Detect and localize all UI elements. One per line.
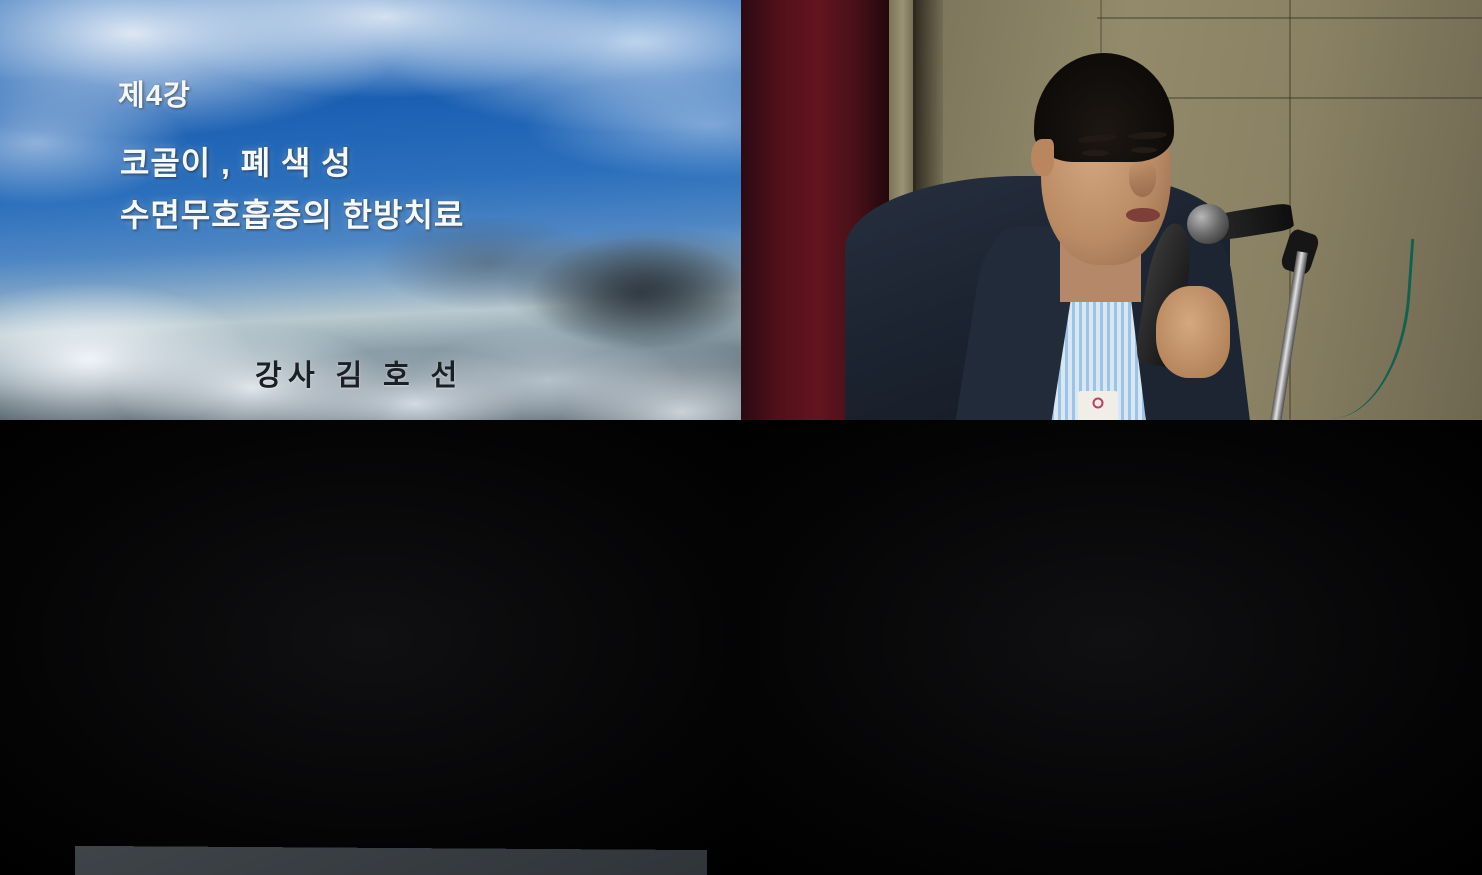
speaker-eye: [1082, 150, 1109, 156]
dark-lecture-room: [741, 420, 1482, 875]
microphone-head-icon: [1187, 204, 1228, 244]
speaker-hand: [1156, 286, 1230, 378]
four-panel-video-grid: 제4강 코골이 , 폐 색 성 수면무호흡증의 한방치료 강사 김 호 선: [0, 0, 1482, 875]
badge-logo-icon: [1093, 397, 1104, 408]
speaker-camera-panel: [741, 0, 1482, 420]
lecture-title-line-2: 수면무호흡증의 한방치료: [120, 190, 464, 242]
speaker-name-badge: [1078, 391, 1118, 420]
lecture-title-line-1: 코골이 , 폐 색 성: [120, 138, 464, 190]
lecture-main-title: 코골이 , 폐 색 성 수면무호흡증의 한방치료: [120, 138, 464, 242]
speaker-ear: [1031, 139, 1053, 177]
dark-lecture-room: [0, 420, 741, 875]
lecture-number: 제4강: [118, 72, 191, 114]
projected-slide-herbal-panel: 기존의 침 법과 한약을 결합. 경혈의 자극수단으로 사용. 효과가 빠르고 …: [741, 420, 1482, 875]
projection-screen: 코골이는 생활습관병 질병의 발생과 진행에 식습관, 운동습관, 휴양, 흡연…: [75, 846, 707, 875]
speaker-credit: 강사 김 호 선: [255, 352, 464, 394]
title-slide-panel: 제4강 코골이 , 폐 색 성 수면무호흡증의 한방치료 강사 김 호 선: [0, 0, 741, 420]
title-slide-text-group: 제4강 코골이 , 폐 색 성 수면무호흡증의 한방치료 강사 김 호 선: [0, 0, 741, 420]
projected-slide-habit-panel: 코골이는 생활습관병 질병의 발생과 진행에 식습관, 운동습관, 휴양, 흡연…: [0, 420, 741, 875]
